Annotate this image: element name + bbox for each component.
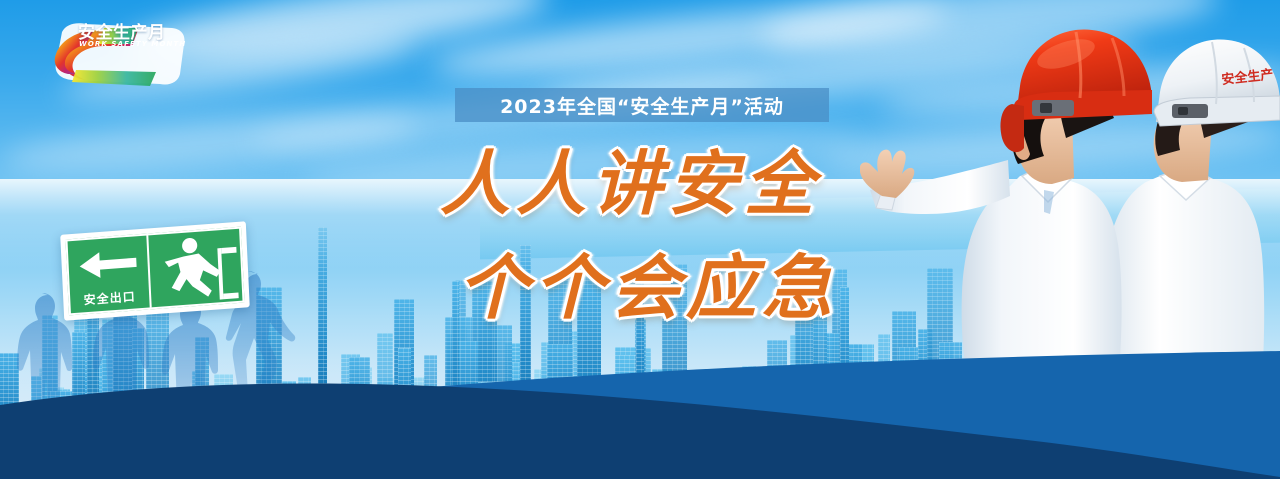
headline-line-2: 个个会应急	[440, 236, 870, 340]
subtitle-bar: 2023年全国“安全生产月”活动	[455, 88, 829, 122]
safety-month-banner: 安全出口	[0, 0, 1280, 479]
headline: 人人讲安全 个个会应急	[440, 132, 870, 340]
subtitle-text: 2023年全国“安全生产月”活动	[500, 92, 784, 119]
running-person-icon	[148, 229, 242, 308]
left-arrow-icon	[68, 236, 149, 294]
exit-sign-right-panel	[148, 229, 242, 308]
emergency-exit-sign: 安全出口	[60, 221, 250, 321]
exit-sign-left-panel: 安全出口	[68, 235, 152, 313]
headline-line-1: 人人讲安全	[440, 132, 870, 236]
exit-sign-face: 安全出口	[65, 227, 244, 316]
bottom-waves	[0, 349, 1280, 479]
logo-english-text: WORK SAFETY MONTH	[79, 40, 186, 48]
